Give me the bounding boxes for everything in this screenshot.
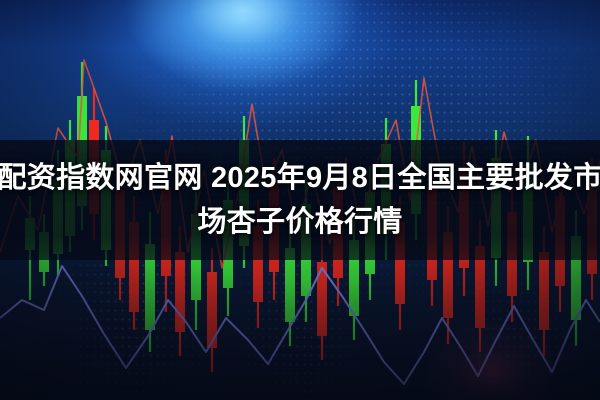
title-line-1: 配资指数网官网 2025年9月8日全国主要批发市	[0, 158, 600, 198]
banner-image: 配资指数网官网 2025年9月8日全国主要批发市 场杏子价格行情	[0, 0, 600, 400]
title-line-2: 场杏子价格行情	[197, 202, 402, 242]
banner-title: 配资指数网官网 2025年9月8日全国主要批发市 场杏子价格行情	[0, 140, 600, 260]
